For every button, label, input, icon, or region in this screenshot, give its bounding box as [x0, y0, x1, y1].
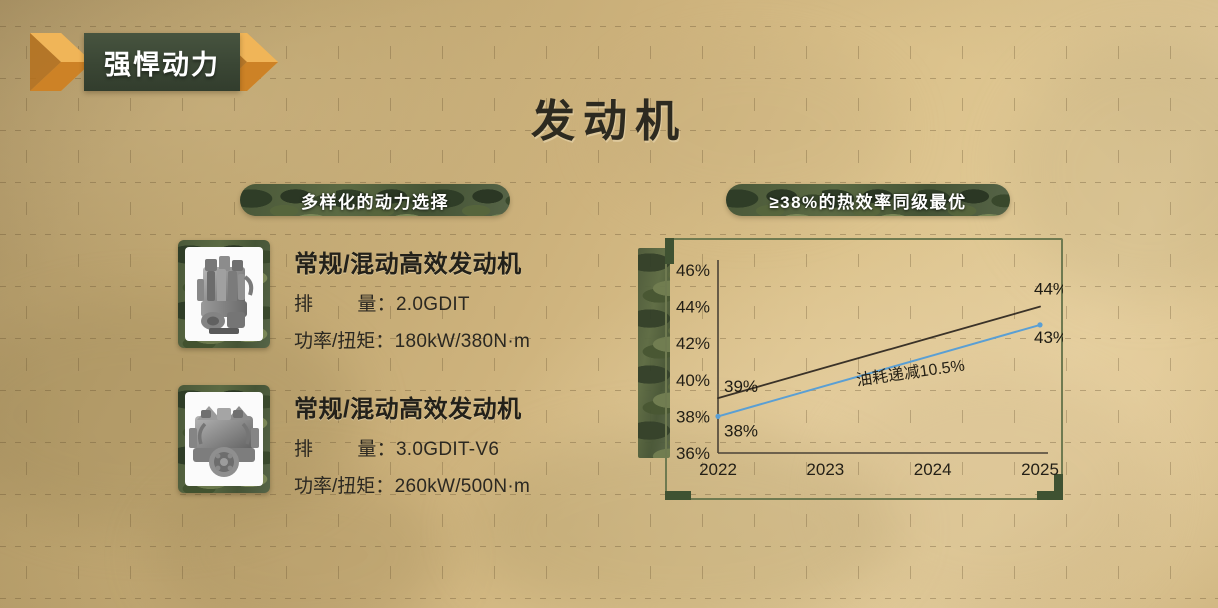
engine-photo-frame	[178, 240, 270, 348]
engine-photo-frame	[178, 385, 270, 493]
ribbon-label: 强悍动力	[84, 33, 240, 91]
spec-value: 3.0GDIT-V6	[396, 439, 499, 460]
efficiency-line-chart: 36%38%40%42%44%46%202220232024202539%44%…	[665, 238, 1063, 500]
section-banner-left-label: 多样化的动力选择	[301, 188, 449, 213]
section-banner-efficiency: ≥38%的热效率同级最优	[726, 184, 1010, 216]
chevron-left-icon	[30, 33, 92, 91]
series-start-label: 39%	[724, 377, 758, 396]
data-point	[715, 414, 720, 419]
x-tick-label: 2022	[699, 460, 737, 479]
series-end-label: 43%	[1034, 328, 1063, 347]
spec-separator: ：	[377, 439, 396, 460]
spec-separator: ：	[375, 476, 394, 497]
spec-label: 排	[294, 439, 313, 460]
spec-value: 260kW/500N·m	[395, 476, 531, 497]
y-tick-label: 46%	[676, 261, 710, 280]
spec-label: 排	[294, 294, 313, 315]
v6-engine-photo-icon	[187, 394, 261, 484]
spec-label: 功率/扭矩	[294, 476, 375, 497]
x-tick-label: 2023	[806, 460, 844, 479]
section-banner-right-label: ≥38%的热效率同级最优	[769, 188, 966, 213]
x-tick-label: 2025	[1021, 460, 1059, 479]
x-tick-label: 2024	[914, 460, 952, 479]
engine-photo	[185, 247, 263, 341]
spec-value: 2.0GDIT	[396, 294, 470, 315]
y-tick-label: 40%	[676, 371, 710, 390]
spec-label-b: 量	[357, 294, 376, 315]
spec-value: 180kW/380N·m	[395, 331, 531, 352]
title-ribbon: 强悍动力	[46, 33, 278, 91]
y-tick-label: 44%	[676, 298, 710, 317]
series-start-label: 38%	[724, 421, 758, 440]
section-banner-powertrain: 多样化的动力选择	[240, 184, 510, 216]
y-tick-label: 38%	[676, 407, 710, 426]
spec-separator: ：	[377, 294, 396, 315]
spec-label: 功率/扭矩	[294, 331, 375, 352]
series-end-label: 44%	[1034, 280, 1063, 299]
page-title: 发动机	[0, 85, 1218, 149]
engine-photo	[185, 392, 263, 486]
y-tick-label: 42%	[676, 334, 710, 353]
spec-label-b: 量	[357, 439, 376, 460]
data-point	[1037, 322, 1042, 327]
spec-separator: ：	[375, 331, 394, 352]
inline-four-engine-photo-icon	[187, 249, 261, 339]
